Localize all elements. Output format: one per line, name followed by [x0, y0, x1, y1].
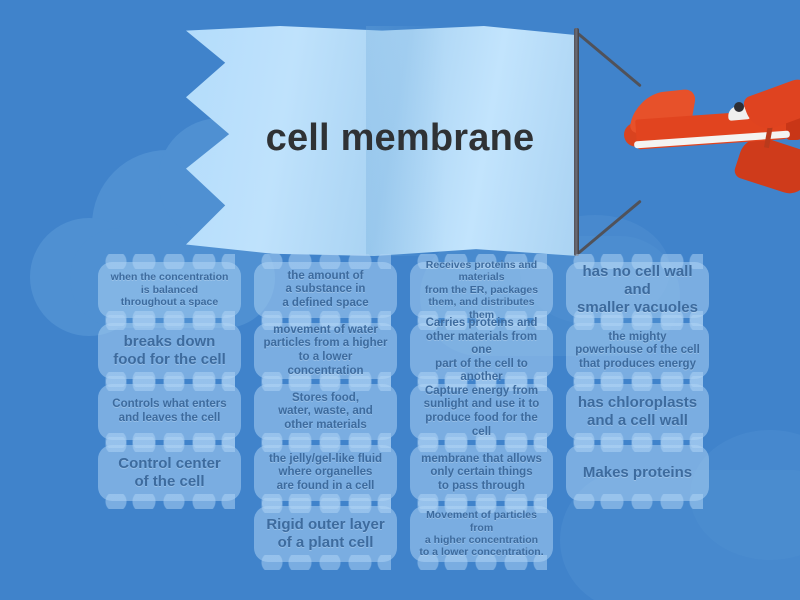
answer-tile-label: the mighty powerhouse of the cell that p…	[575, 331, 700, 372]
answer-tile-label: has chloroplasts and a cell wall	[578, 394, 697, 429]
answer-tile-label: Rigid outer layer of a plant cell	[266, 516, 384, 551]
answer-tile[interactable]: breaks down food for the cell	[98, 323, 241, 379]
answer-tile-label: Control center of the cell	[118, 455, 221, 490]
quiz-scene: cell membrane when the concentration is …	[0, 0, 800, 600]
prompt-word: cell membrane	[186, 26, 578, 256]
prompt-banner: cell membrane	[186, 26, 578, 256]
answer-tile-label: Movement of particles from a higher conc…	[419, 509, 544, 559]
answer-tile[interactable]: Movement of particles from a higher conc…	[410, 506, 553, 562]
answer-tile-label: movement of water particles from a highe…	[263, 324, 388, 378]
banner-pole	[574, 28, 579, 256]
answer-tile-label: when the concentration is balanced throu…	[111, 271, 229, 308]
answer-tile[interactable]: Controls what enters and leaves the cell	[98, 384, 241, 440]
answer-tile[interactable]: Rigid outer layer of a plant cell	[254, 506, 397, 562]
answer-tile[interactable]: Receives proteins and materials from the…	[410, 262, 553, 318]
answer-tile[interactable]: movement of water particles from a highe…	[254, 323, 397, 379]
answer-tile[interactable]: membrane that allows only certain things…	[410, 445, 553, 501]
answer-tile[interactable]: Makes proteins	[566, 445, 709, 501]
answer-tile-empty	[98, 506, 241, 562]
answer-tile[interactable]: has no cell wall and smaller vacuoles	[566, 262, 709, 318]
answer-tile-label: has no cell wall and smaller vacuoles	[575, 263, 700, 316]
answer-tile[interactable]: Carries proteins and other materials fro…	[410, 323, 553, 379]
answer-tile[interactable]: the mighty powerhouse of the cell that p…	[566, 323, 709, 379]
tow-cable-bottom	[577, 200, 642, 255]
answer-tile-label: Receives proteins and materials from the…	[419, 259, 544, 321]
answer-tile[interactable]: the jelly/gel-like fluid where organelle…	[254, 445, 397, 501]
answer-tile-label: the amount of a substance in a defined s…	[282, 270, 368, 311]
answer-tile[interactable]: Stores food, water, waste, and other mat…	[254, 384, 397, 440]
answer-tile-label: breaks down food for the cell	[113, 333, 226, 368]
answer-tile-grid: when the concentration is balanced throu…	[98, 262, 710, 572]
answer-tile-label: Controls what enters and leaves the cell	[112, 398, 226, 425]
answer-tile-label: Makes proteins	[583, 464, 692, 482]
airplane-icon	[618, 78, 800, 198]
answer-tile[interactable]: the amount of a substance in a defined s…	[254, 262, 397, 318]
answer-tile-label: Capture energy from sunlight and use it …	[419, 385, 544, 439]
answer-tile-label: membrane that allows only certain things…	[421, 453, 542, 494]
answer-tile[interactable]: when the concentration is balanced throu…	[98, 262, 241, 318]
answer-tile-label: the jelly/gel-like fluid where organelle…	[269, 453, 382, 494]
answer-tile-empty	[566, 506, 709, 562]
answer-tile[interactable]: Capture energy from sunlight and use it …	[410, 384, 553, 440]
answer-tile[interactable]: has chloroplasts and a cell wall	[566, 384, 709, 440]
answer-tile-label: Carries proteins and other materials fro…	[419, 317, 544, 385]
answer-tile-label: Stores food, water, waste, and other mat…	[278, 392, 373, 433]
answer-tile[interactable]: Control center of the cell	[98, 445, 241, 501]
plane-pilot-head	[734, 102, 744, 112]
